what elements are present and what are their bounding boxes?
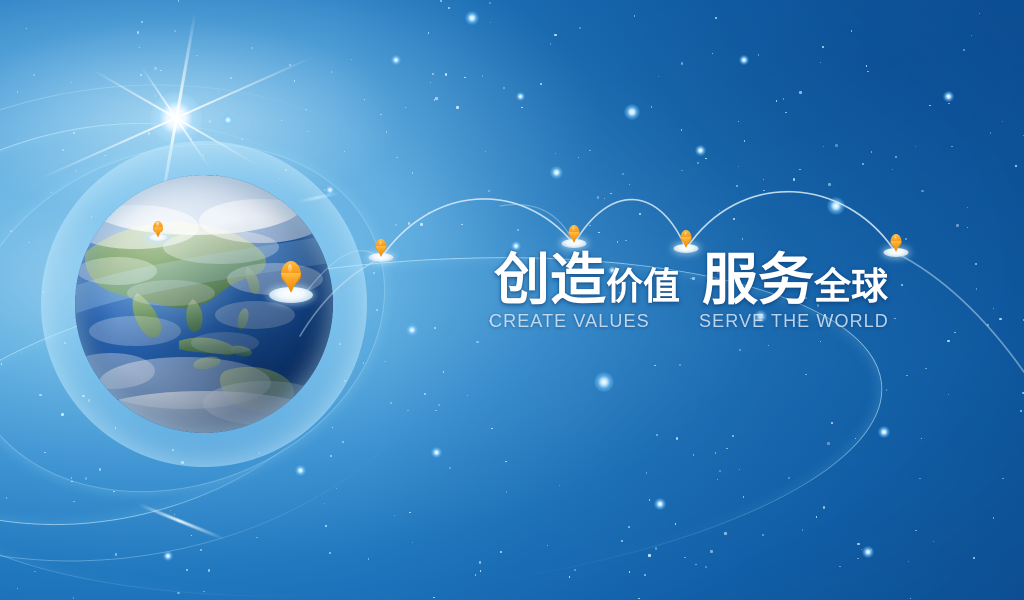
background-vignette xyxy=(0,0,1024,600)
banner-stage: 创造价值服务全球 CREATE VALUES SERVE THE WORLD xyxy=(0,0,1024,600)
